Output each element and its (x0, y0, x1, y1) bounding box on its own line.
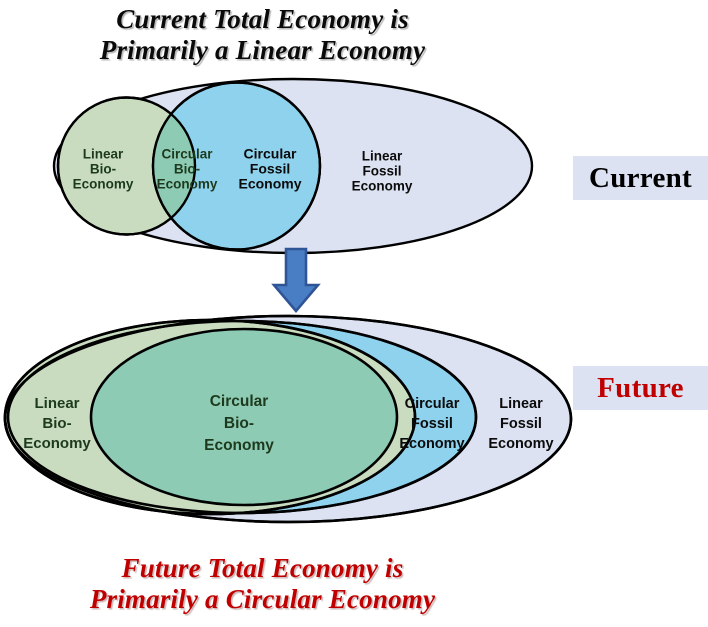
current-state-badge-label: Current (589, 162, 692, 195)
label-line: Bio- (224, 415, 254, 432)
linear-fossil-economy-shape (54, 79, 532, 253)
circular-fossil-economy-shape (153, 83, 320, 250)
down-arrow-icon (274, 249, 318, 311)
label-line: Linear (499, 396, 543, 412)
label-linear-bio-economy-current: Linear Bio- Economy (73, 147, 134, 192)
top-caption: Current Total Economy is Primarily a Lin… (0, 4, 525, 67)
circular-fossil-economy-outline (8, 321, 476, 513)
label-circular-bio-economy-future: Circular Bio- Economy (204, 393, 274, 454)
current-economy-venn-diagram: Linear Bio- Economy Circular Bio- Econom… (0, 0, 708, 627)
circular-fossil-economy-shape (8, 321, 476, 513)
label-line: Bio- (90, 162, 116, 177)
region-linear-bio-economy-current (58, 98, 195, 235)
label-circular-fossil-economy-current: Circular Fossil Economy (238, 146, 301, 192)
label-line: Economy (488, 436, 553, 452)
label-line: Linear (362, 149, 403, 164)
top-caption-line-1: Current Total Economy is (0, 4, 525, 35)
label-circular-bio-economy-current: Circular Bio- Economy (157, 147, 218, 192)
label-line: Economy (23, 435, 91, 452)
region-circular-fossil-economy-future (8, 321, 476, 513)
bottom-caption-line-2: Primarily a Circular Economy (0, 584, 525, 615)
region-circular-bio-economy-future (91, 329, 397, 505)
future-state-badge-label: Future (597, 372, 684, 405)
label-line: Economy (352, 179, 413, 194)
region-linear-fossil-economy-future (5, 316, 571, 522)
region-linear-bio-economy-future (5, 320, 415, 514)
label-line: Economy (157, 177, 218, 192)
linear-bio-economy-shape (5, 320, 415, 514)
label-line: Bio- (174, 162, 200, 177)
future-state-badge: Future (573, 366, 708, 410)
circular-fossil-economy-outline (153, 83, 320, 250)
label-line: Linear (34, 395, 79, 412)
bottom-caption: Future Total Economy is Primarily a Circ… (0, 553, 525, 616)
label-linear-bio-economy-future: Linear Bio- Economy (23, 395, 91, 452)
label-line: Fossil (500, 416, 542, 432)
label-line: Circular (210, 393, 269, 410)
region-linear-fossil-economy-current (54, 79, 532, 253)
circular-bio-economy-shape (153, 83, 320, 250)
transition-arrow (0, 0, 708, 627)
label-line: Economy (399, 436, 464, 452)
label-line: Fossil (411, 416, 453, 432)
linear-bio-economy-shape (58, 98, 195, 235)
label-line: Circular (161, 147, 213, 162)
label-line: Bio- (42, 415, 71, 432)
label-circular-fossil-economy-future: Circular Fossil Economy (399, 396, 464, 452)
current-state-badge: Current (573, 156, 708, 200)
top-caption-line-2: Primarily a Linear Economy (0, 35, 525, 66)
label-line: Fossil (250, 161, 290, 177)
label-line: Circular (405, 396, 460, 412)
label-line: Economy (238, 176, 301, 192)
circular-bio-economy-shape (91, 329, 397, 505)
label-linear-fossil-economy-future: Linear Fossil Economy (488, 396, 553, 452)
future-economy-venn-diagram: Linear Bio- Economy Circular Bio- Econom… (0, 0, 708, 627)
linear-fossil-economy-outline (5, 316, 571, 522)
label-line: Circular (244, 146, 297, 162)
label-line: Linear (83, 147, 124, 162)
label-line: Fossil (362, 164, 401, 179)
label-line: Economy (204, 437, 274, 454)
linear-fossil-economy-shape (5, 316, 571, 522)
region-circular-bio-economy-current (153, 83, 320, 250)
region-circular-fossil-economy-current (153, 83, 320, 250)
label-line: Economy (73, 177, 134, 192)
bottom-caption-line-1: Future Total Economy is (0, 553, 525, 584)
linear-bio-economy-outline (58, 98, 195, 235)
label-linear-fossil-economy-current: Linear Fossil Economy (352, 149, 413, 194)
linear-bio-economy-outline (5, 320, 415, 514)
